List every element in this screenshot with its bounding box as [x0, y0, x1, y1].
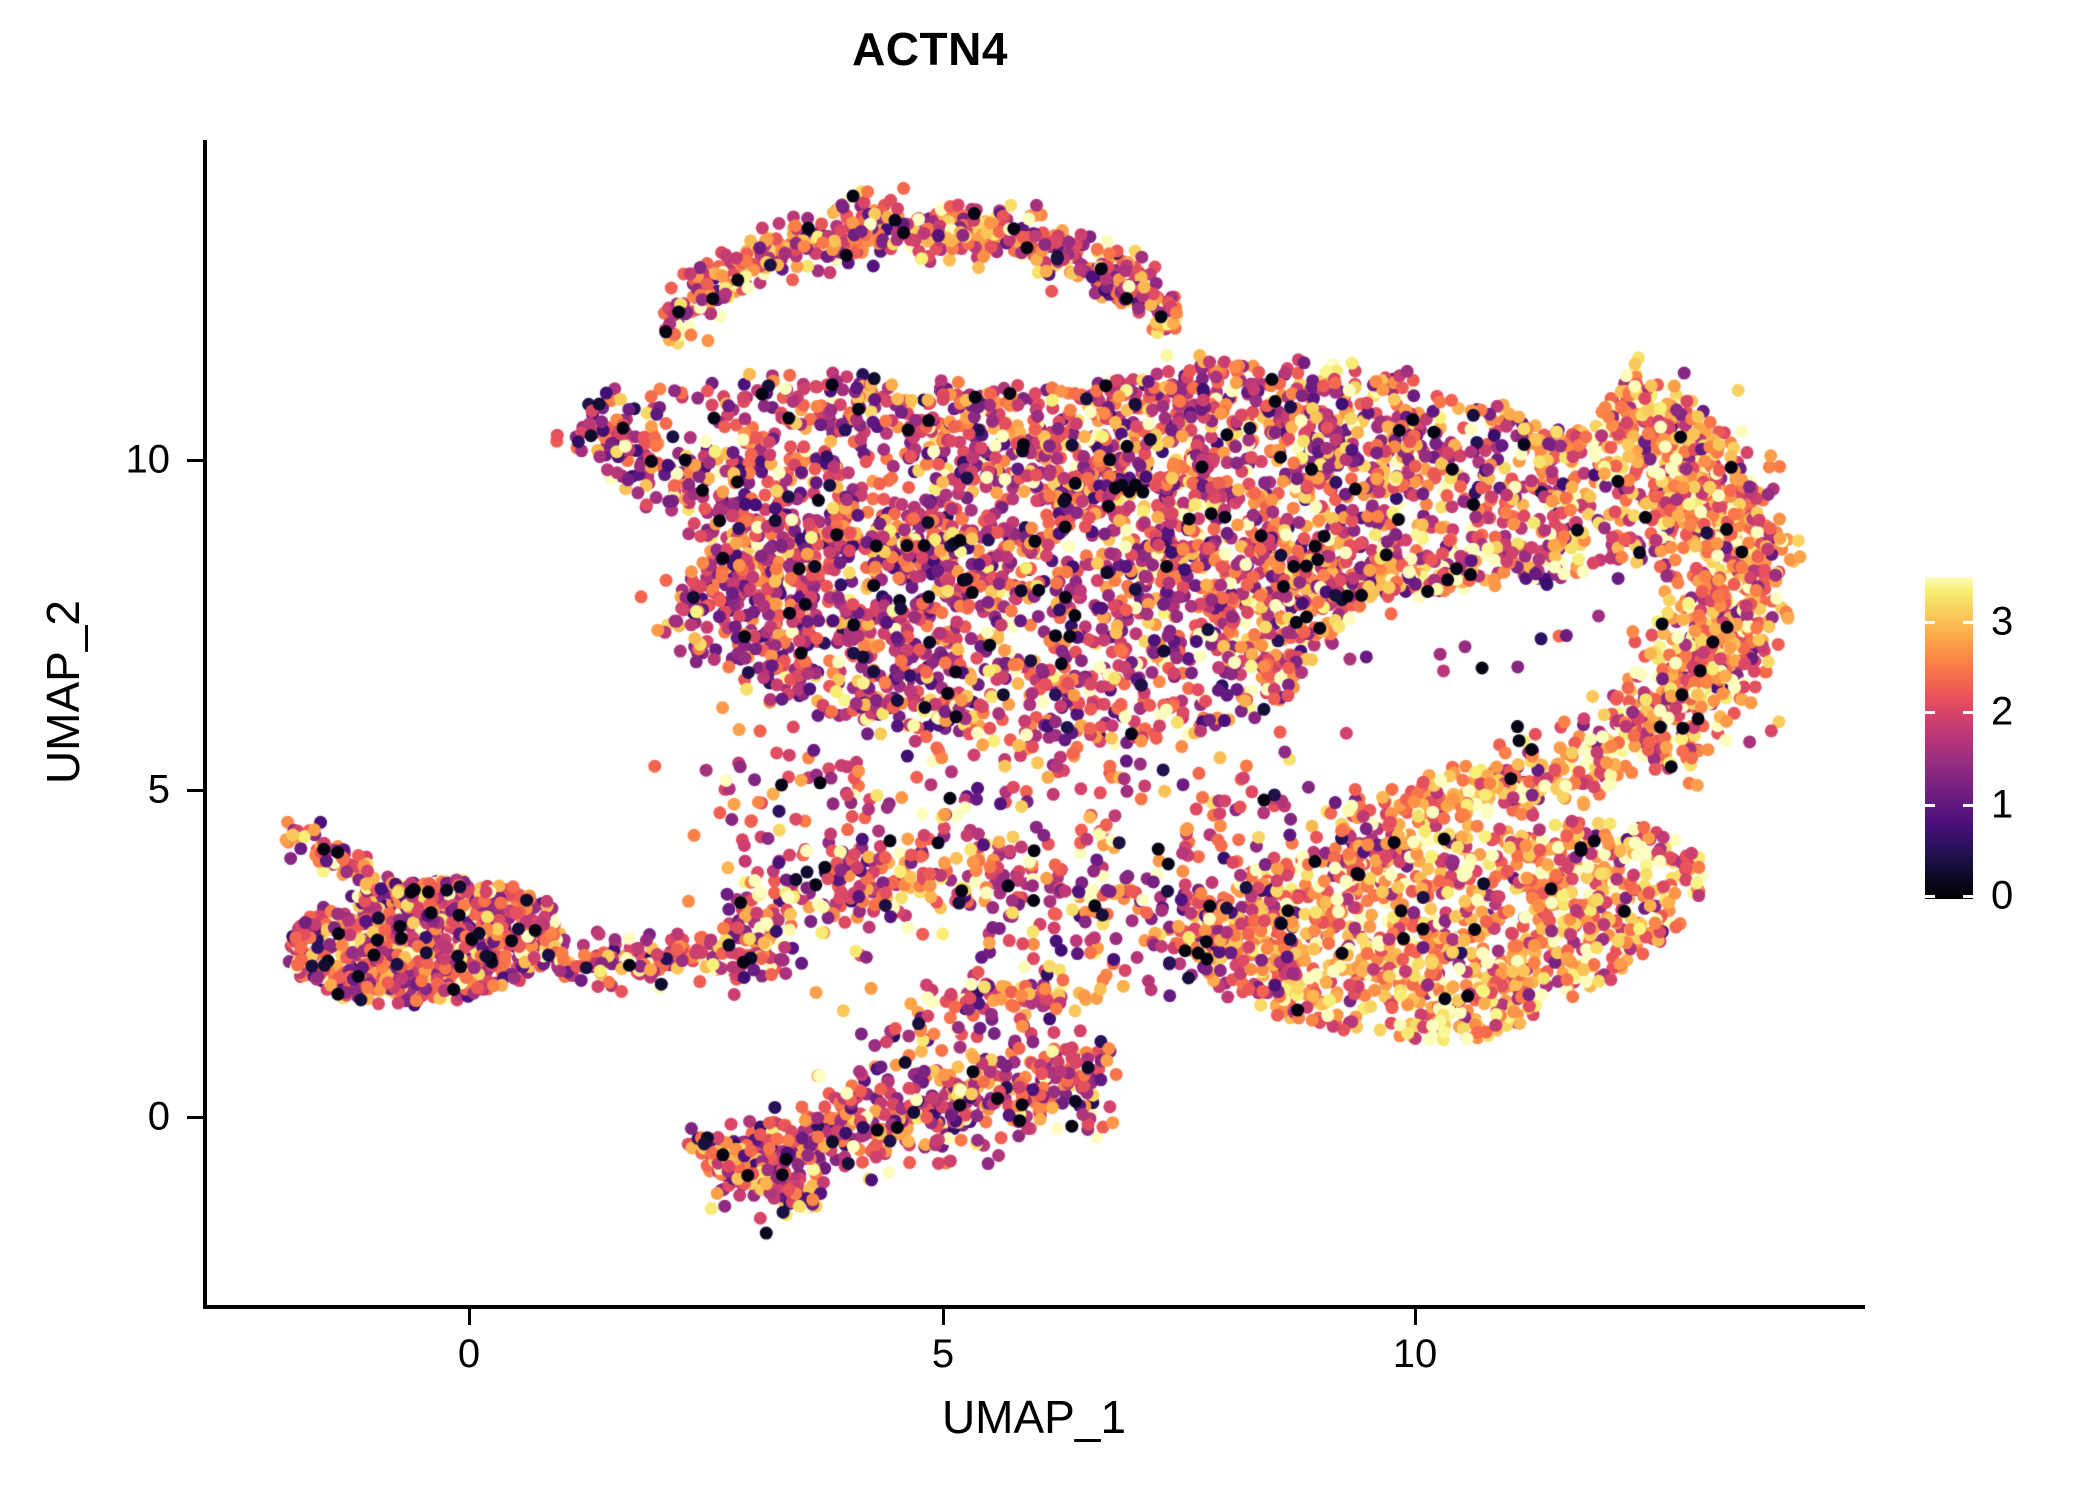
x-tick-mark-10 [1414, 1309, 1417, 1325]
x-tick-mark-5 [942, 1309, 945, 1325]
colorbar-label-3: 3 [1991, 600, 2013, 645]
x-tick-label-10: 10 [1393, 1332, 1438, 1377]
x-tick-label-5: 5 [932, 1332, 954, 1377]
colorbar-tick-3-right [1963, 621, 1973, 624]
y-axis-title: UMAP_2 [36, 392, 90, 992]
y-tick-mark-10 [187, 459, 203, 462]
colorbar-legend: 3 2 1 0 [1925, 577, 2085, 899]
page-title: ACTN4 [0, 22, 1860, 76]
scatter-plot-panel [205, 140, 1865, 1305]
colorbar-tick-1-right [1963, 804, 1973, 807]
colorbar-label-1: 1 [1991, 783, 2013, 828]
y-tick-mark-5 [187, 789, 203, 792]
colorbar-tick-2-right [1963, 711, 1973, 714]
y-tick-mark-0 [187, 1116, 203, 1119]
y-tick-label-0: 0 [70, 1095, 170, 1140]
x-axis-title: UMAP_1 [203, 1390, 1865, 1444]
colorbar-tick-0-left [1925, 895, 1935, 898]
colorbar-tick-0-right [1963, 895, 1973, 898]
x-tick-label-0: 0 [458, 1332, 480, 1377]
colorbar-tick-2-left [1925, 711, 1935, 714]
scatter-points-canvas [205, 140, 1865, 1305]
feature-plot-figure: ACTN4 10 5 0 0 5 10 UMAP_1 UMAP_2 3 2 1 … [0, 0, 2100, 1500]
y-axis-line [203, 140, 207, 1308]
colorbar-gradient [1925, 577, 1973, 899]
colorbar-tick-1-left [1925, 804, 1935, 807]
colorbar-label-0: 0 [1991, 874, 2013, 919]
colorbar-label-2: 2 [1991, 690, 2013, 735]
x-axis-line [203, 1305, 1865, 1309]
colorbar-tick-3-left [1925, 621, 1935, 624]
x-tick-mark-0 [468, 1309, 471, 1325]
